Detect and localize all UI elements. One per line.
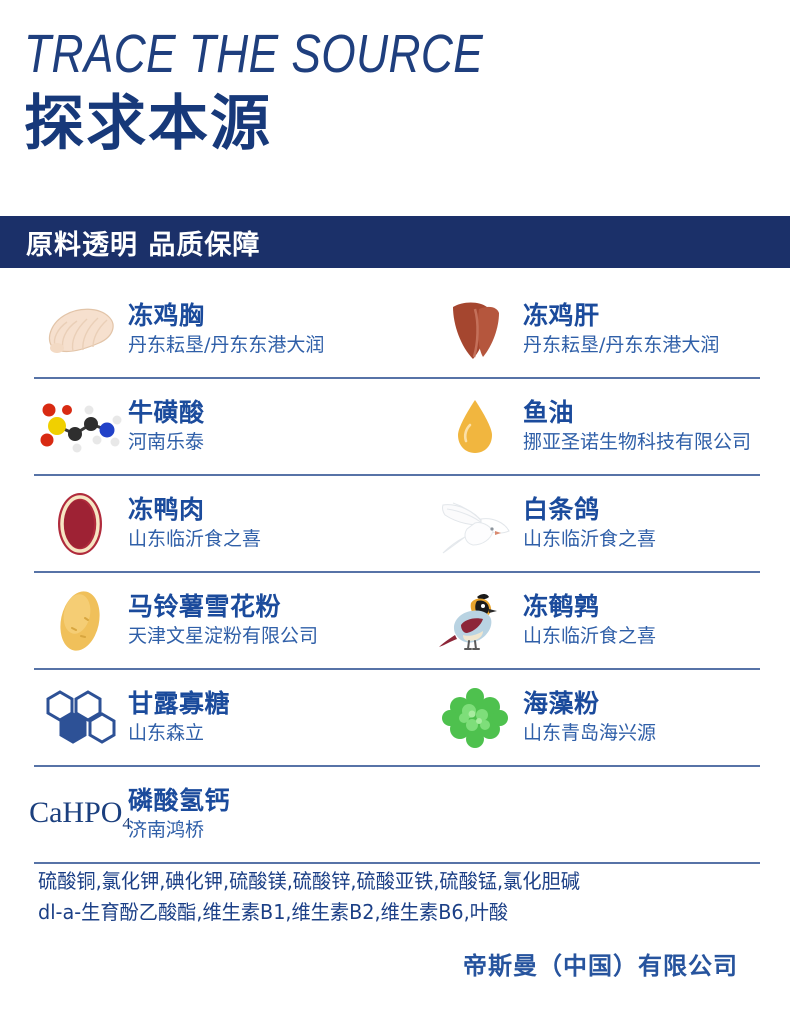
additives-line-1: 硫酸铜,氯化钾,碘化钾,硫酸镁,硫酸锌,硫酸亚铁,硫酸锰,氯化胆碱 [38,866,760,897]
ingredient-item-mannan-oligosaccharide: 甘露寡糖 山东森立 [0,670,395,765]
supplier-company-name: 帝斯曼（中国）有限公司 [0,946,738,981]
ingredient-grid: 冻鸡胸 丹东耘垦/丹东东港大润 冻鸡肝 丹东耘垦/丹东东港大润 [0,282,790,864]
ingredient-item-white-pigeon: 白条鸽 山东临沂食之喜 [395,476,790,571]
ingredient-item-duck-meat: 冻鸭肉 山东临沂食之喜 [0,476,395,571]
ingredient-source: 山东森立 [128,721,230,746]
chicken-liver-icon [429,293,521,367]
ingredient-source: 挪亚圣诺生物科技有限公司 [523,430,751,455]
cahpo4-formula-text: CaHPO4 [29,796,131,834]
ingredient-name: 冻鸭肉 [128,495,261,525]
ingredient-item-quail: 冻鹌鹑 山东临沂食之喜 [395,573,790,668]
row-divider [34,862,760,864]
ingredient-name: 白条鸽 [523,495,656,525]
ingredient-row: 冻鸭肉 山东临沂食之喜 [0,476,790,571]
ingredient-text: 冻鸡胸 丹东耘垦/丹东东港大润 [126,301,324,358]
ingredient-item-chicken-liver: 冻鸡肝 丹东耘垦/丹东东港大润 [395,282,790,377]
ingredient-source: 河南乐泰 [128,430,205,455]
ingredient-source: 山东临沂食之喜 [523,527,656,552]
ingredient-source: 天津文星淀粉有限公司 [128,624,318,649]
ingredient-row: 马铃薯雪花粉 天津文星淀粉有限公司 [0,573,790,668]
ingredient-text: 鱼油 挪亚圣诺生物科技有限公司 [521,398,751,455]
ingredient-name: 鱼油 [523,398,751,428]
ingredient-text: 甘露寡糖 山东森立 [126,689,230,746]
ingredient-text: 牛磺酸 河南乐泰 [126,398,205,455]
ingredient-name: 甘露寡糖 [128,689,230,719]
ingredient-text: 冻鹌鹑 山东临沂食之喜 [521,592,656,649]
ingredient-source: 丹东耘垦/丹东东港大润 [128,333,324,358]
ingredient-source: 山东临沂食之喜 [128,527,261,552]
ingredient-text: 白条鸽 山东临沂食之喜 [521,495,656,552]
ingredient-name: 冻鸡肝 [523,301,719,331]
ingredient-source: 丹东耘垦/丹东东港大润 [523,333,719,358]
ingredient-source: 济南鸿桥 [128,818,230,843]
ingredient-name: 牛磺酸 [128,398,205,428]
page-title-english: TRACE THE SOURCE [24,26,652,83]
additives-line-2: dl-a-生育酚乙酸酯,维生素B1,维生素B2,维生素B6,叶酸 [38,897,760,928]
potato-icon [34,584,126,658]
ingredient-item-seaweed-powder: 海藻粉 山东青岛海兴源 [395,670,790,765]
ingredient-row: 牛磺酸 河南乐泰 鱼油 挪亚圣诺生物科技有限公司 [0,379,790,474]
ingredient-source: 山东临沂食之喜 [523,624,656,649]
cahpo4-formula-icon: CaHPO4 [34,778,126,852]
additives-footer: 硫酸铜,氯化钾,碘化钾,硫酸镁,硫酸锌,硫酸亚铁,硫酸锰,氯化胆碱 dl-a-生… [0,866,790,981]
quality-banner-text: 原料透明 品质保障 [26,223,260,262]
ingredient-source: 山东青岛海兴源 [523,721,656,746]
ingredient-name: 马铃薯雪花粉 [128,592,318,622]
ingredient-item-fish-oil: 鱼油 挪亚圣诺生物科技有限公司 [395,379,790,474]
ingredient-row: CaHPO4 磷酸氢钙 济南鸿桥 [0,767,790,862]
duck-meat-icon [34,487,126,561]
ingredient-text: 冻鸡肝 丹东耘垦/丹东东港大润 [521,301,719,358]
ingredient-name: 磷酸氢钙 [128,786,230,816]
quality-banner: 原料透明 品质保障 [0,216,790,268]
ingredient-text: 海藻粉 山东青岛海兴源 [521,689,656,746]
ingredient-name: 海藻粉 [523,689,656,719]
white-pigeon-icon [429,487,521,561]
trace-the-source-page: TRACE THE SOURCE 探求本源 原料透明 品质保障 [0,0,790,1013]
page-title-chinese: 探求本源 [24,91,790,158]
ingredient-text: 磷酸氢钙 济南鸿桥 [126,786,230,843]
chicken-breast-icon [34,293,126,367]
ingredient-name: 冻鹌鹑 [523,592,656,622]
ingredient-item-taurine: 牛磺酸 河南乐泰 [0,379,395,474]
ingredient-item-chicken-breast: 冻鸡胸 丹东耘垦/丹东东港大润 [0,282,395,377]
page-header: TRACE THE SOURCE 探求本源 [0,0,790,158]
ingredient-item-potato-flake: 马铃薯雪花粉 天津文星淀粉有限公司 [0,573,395,668]
hexagon-molecule-icon [34,681,126,755]
ingredient-text: 冻鸭肉 山东临沂食之喜 [126,495,261,552]
ingredient-item-calcium-hydrogen-phosphate: CaHPO4 磷酸氢钙 济南鸿桥 [0,767,790,862]
seaweed-icon [429,681,521,755]
ingredient-row: 冻鸡胸 丹东耘垦/丹东东港大润 冻鸡肝 丹东耘垦/丹东东港大润 [0,282,790,377]
fish-oil-drop-icon [429,390,521,464]
ingredient-name: 冻鸡胸 [128,301,324,331]
quail-icon [429,584,521,658]
ingredient-text: 马铃薯雪花粉 天津文星淀粉有限公司 [126,592,318,649]
ingredient-row: 甘露寡糖 山东森立 [0,670,790,765]
taurine-molecule-icon [34,390,126,464]
